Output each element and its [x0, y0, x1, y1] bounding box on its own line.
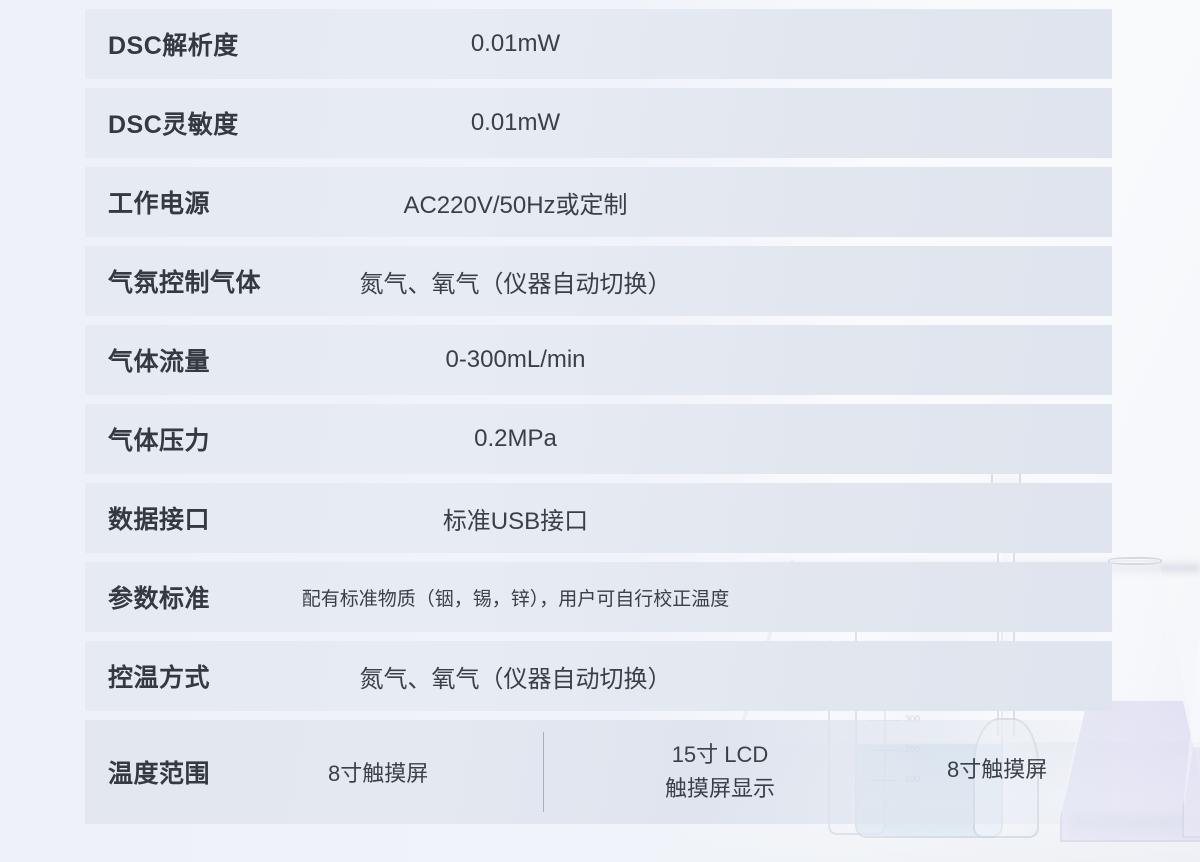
- table-row: 气体压力 0.2MPa: [85, 404, 1112, 474]
- spec-value: AC220V/50Hz或定制: [156, 185, 876, 220]
- screen-option-center-line2: 触摸屏显示: [665, 776, 775, 801]
- spec-value: 0.01mW: [156, 109, 876, 137]
- spec-value: 配有标准物质（铟，锡，锌），用户可自行校正温度: [156, 584, 876, 611]
- table-row: 气体流量 0-300mL/min: [85, 325, 1112, 395]
- screen-option-center: 15寸 LCD 触摸屏显示: [610, 738, 830, 806]
- table-row: DSC灵敏度 0.01mW: [85, 88, 1112, 158]
- erlenmeyer-flask-right-icon: [1182, 600, 1200, 838]
- spec-label: 温度范围: [108, 754, 210, 790]
- table-row: 控温方式 氮气、氧气（仪器自动切换）: [85, 641, 1112, 711]
- specification-table: DSC解析度 0.01mW DSC灵敏度 0.01mW 工作电源 AC220V/…: [85, 9, 1112, 824]
- vertical-divider: [543, 732, 544, 812]
- spec-value: 标准USB接口: [156, 501, 876, 536]
- screen-option-center-line1: 15寸 LCD: [672, 742, 769, 767]
- table-row: 工作电源 AC220V/50Hz或定制: [85, 167, 1112, 237]
- spec-value: 0.01mW: [156, 30, 876, 58]
- table-row: DSC解析度 0.01mW: [85, 9, 1112, 79]
- screen-option-right: 8寸触摸屏: [947, 752, 1047, 784]
- spec-value: 氮气、氧气（仪器自动切换）: [156, 264, 876, 299]
- table-row: 参数标准 配有标准物质（铟，锡，锌），用户可自行校正温度: [85, 562, 1112, 632]
- screen-option-left: 8寸触摸屏: [328, 756, 428, 788]
- spec-value: 氮气、氧气（仪器自动切换）: [156, 659, 876, 694]
- table-row: 数据接口 标准USB接口: [85, 483, 1112, 553]
- spec-value: 0.2MPa: [156, 425, 876, 453]
- table-row: 气氛控制气体 氮气、氧气（仪器自动切换）: [85, 246, 1112, 316]
- spec-value: 0-300mL/min: [156, 346, 876, 374]
